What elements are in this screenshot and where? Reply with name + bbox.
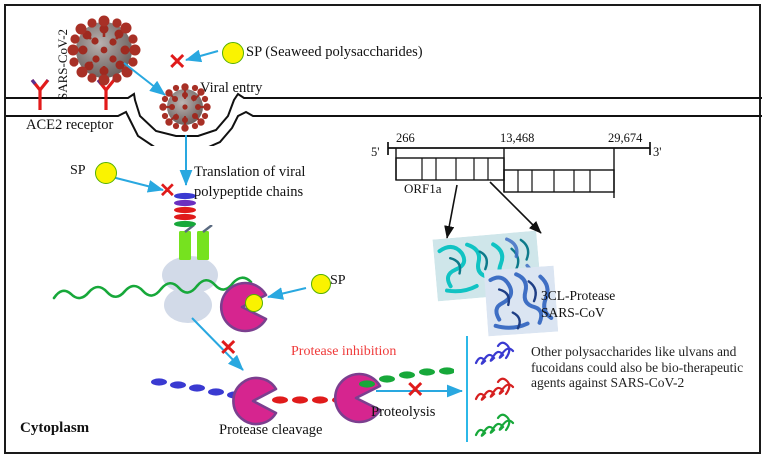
genome-position-13468: 13,468 [500, 131, 534, 145]
translation-label-line2: polypeptide chains [194, 184, 303, 201]
seaweed-polysaccharide-icon [311, 274, 331, 294]
seaweed-polysaccharide-icon [222, 42, 244, 64]
genome-map [378, 136, 663, 208]
red-x-block-icon: ✕ [168, 51, 186, 73]
proteolysis-label: Proteolysis [371, 404, 435, 421]
section-divider [466, 336, 468, 442]
red-x-block-icon: ✕ [159, 181, 176, 201]
virus-name-label: SARS-CoV-2 [56, 29, 71, 100]
five-prime-label: 5' [371, 145, 380, 159]
protease-cleavage-label: Protease cleavage [219, 422, 322, 439]
ace2-receptor-label: ACE2 receptor [26, 117, 113, 134]
polysaccharide-helix-icon [473, 337, 519, 441]
conclusion-text: Other polysaccharides like ulvans and fu… [531, 344, 745, 391]
protease-name-line2: SARS-CoV [541, 305, 605, 321]
sp-legend-label: SP (Seaweed polysaccharides) [246, 44, 423, 61]
seaweed-polysaccharide-icon [245, 294, 263, 312]
three-prime-label: 3' [653, 145, 662, 159]
sp-label: SP [70, 163, 86, 179]
translation-label-line1: Translation of viral [194, 164, 305, 181]
red-x-block-icon: ✕ [219, 337, 237, 359]
genome-position-266: 266 [396, 131, 415, 145]
coronavirus-particle-icon [63, 9, 145, 91]
red-x-block-icon: ✕ [406, 379, 424, 401]
protease-name-line1: 3CL-Protease [541, 288, 615, 304]
figure-canvas: ✕ ✕ ✕ ✕ SP (Seaweed polysaccharides) SAR… [0, 0, 771, 463]
viral-entry-label: Viral entry [200, 80, 262, 97]
sp-label: SP [330, 273, 346, 289]
seaweed-polysaccharide-icon [95, 162, 117, 184]
genome-position-29674: 29,674 [608, 131, 642, 145]
orf1a-label: ORF1a [404, 182, 442, 197]
protease-inhibition-label: Protease inhibition [291, 344, 396, 360]
cytoplasm-label: Cytoplasm [20, 420, 89, 437]
ace2-receptor-icon [29, 78, 51, 112]
